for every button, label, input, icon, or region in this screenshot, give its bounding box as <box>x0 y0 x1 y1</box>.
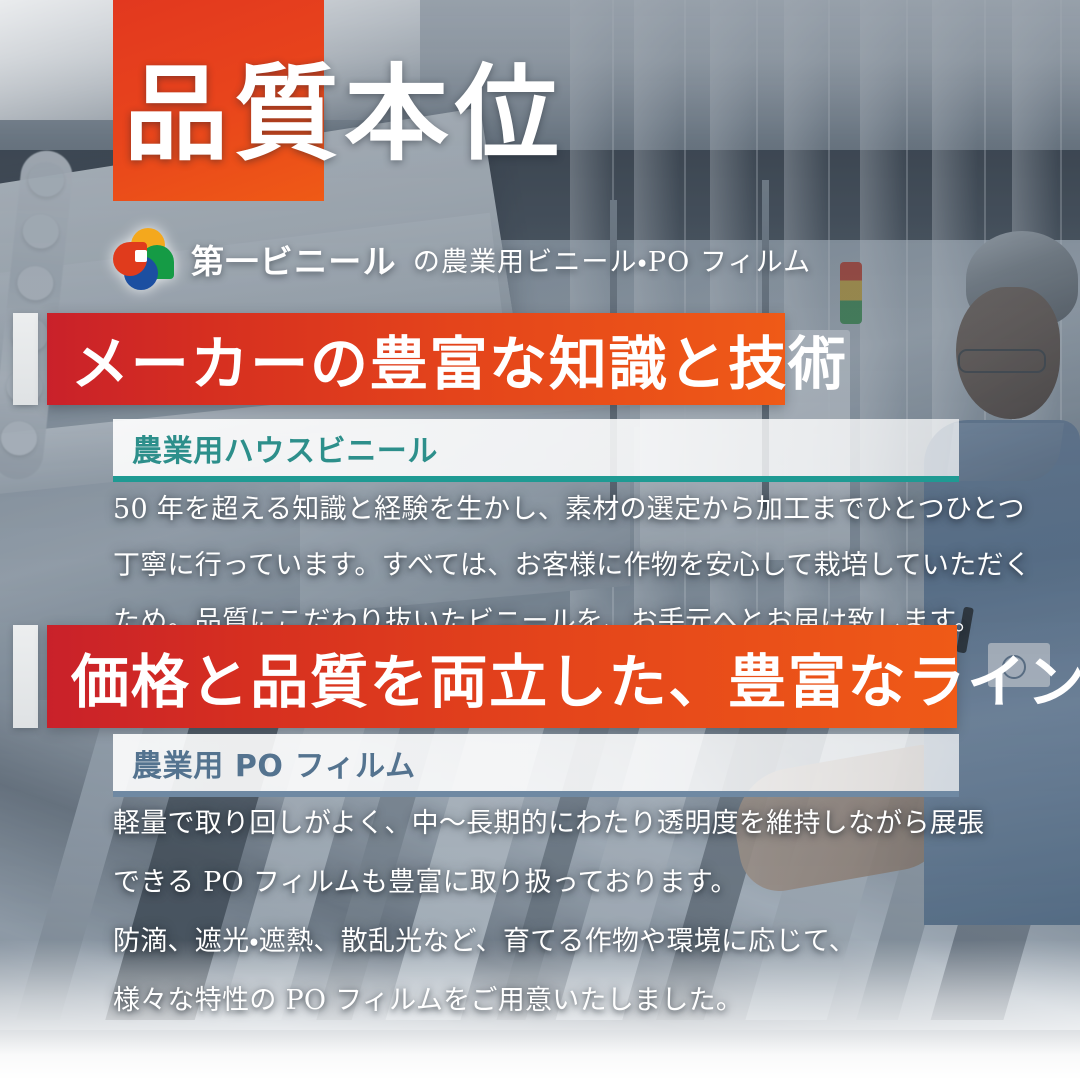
promo-banner-stage: 品質本位 第一ビニール の農業用ビニール・PO フィルム メーカーの豊富な知識と… <box>0 0 1080 1080</box>
section-2-tick-bar <box>13 625 38 728</box>
section-2-paragraph-line: 様々な特性の PO フィルムをご用意いたしました。 <box>113 978 973 1017</box>
section-1-paragraph-line: 50 年を超える知識と経験を生かし、素材の選定から加工までひとつひとつ <box>113 487 973 526</box>
tagline-text: の農業用ビニール・PO フィルム <box>413 240 811 279</box>
pinwheel-logo-icon <box>113 228 175 290</box>
hero-title: 品質本位 <box>124 62 824 166</box>
section-1-tick-bar <box>13 313 38 405</box>
brand-name: 第一ビニール <box>191 235 397 283</box>
section-1-subheader-label: 農業用ハウスビニール <box>113 426 438 470</box>
section-1-banner: メーカーの豊富な知識と技術 <box>47 313 785 405</box>
tagline-row: 第一ビニール の農業用ビニール・PO フィルム <box>113 222 811 296</box>
section-2-paragraph-line: できる PO フィルムも豊富に取り扱っております。 <box>113 860 973 899</box>
section-2-subheader-label: 農業用 PO フィルム <box>113 741 416 785</box>
section-1-paragraph-line: 丁寧に行っています。すべては、お客様に作物を安心して栽培していただく <box>113 543 973 582</box>
section-2-paragraph: 軽量で取り回しがよく、中〜長期的にわたり透明度を維持しながら展張 できる PO … <box>113 801 973 1037</box>
section-1-banner-label: メーカーの豊富な知識と技術 <box>47 317 848 401</box>
content-layer: 品質本位 第一ビニール の農業用ビニール・PO フィルム メーカーの豊富な知識と… <box>0 0 1080 1080</box>
section-2-banner: 価格と品質を両立した、豊富なラインナップ <box>47 625 957 728</box>
section-2-banner-label: 価格と品質を両立した、豊富なラインナップ <box>47 635 1080 719</box>
section-2-paragraph-line: 軽量で取り回しがよく、中〜長期的にわたり透明度を維持しながら展張 <box>113 801 973 840</box>
section-2-subheader: 農業用 PO フィルム <box>113 734 959 797</box>
section-2-paragraph-line: 防滴、遮光・遮熱、散乱光など、育てる作物や環境に応じて、 <box>113 919 973 958</box>
logo-center-icon <box>135 250 147 262</box>
section-1-subheader: 農業用ハウスビニール <box>113 419 959 482</box>
